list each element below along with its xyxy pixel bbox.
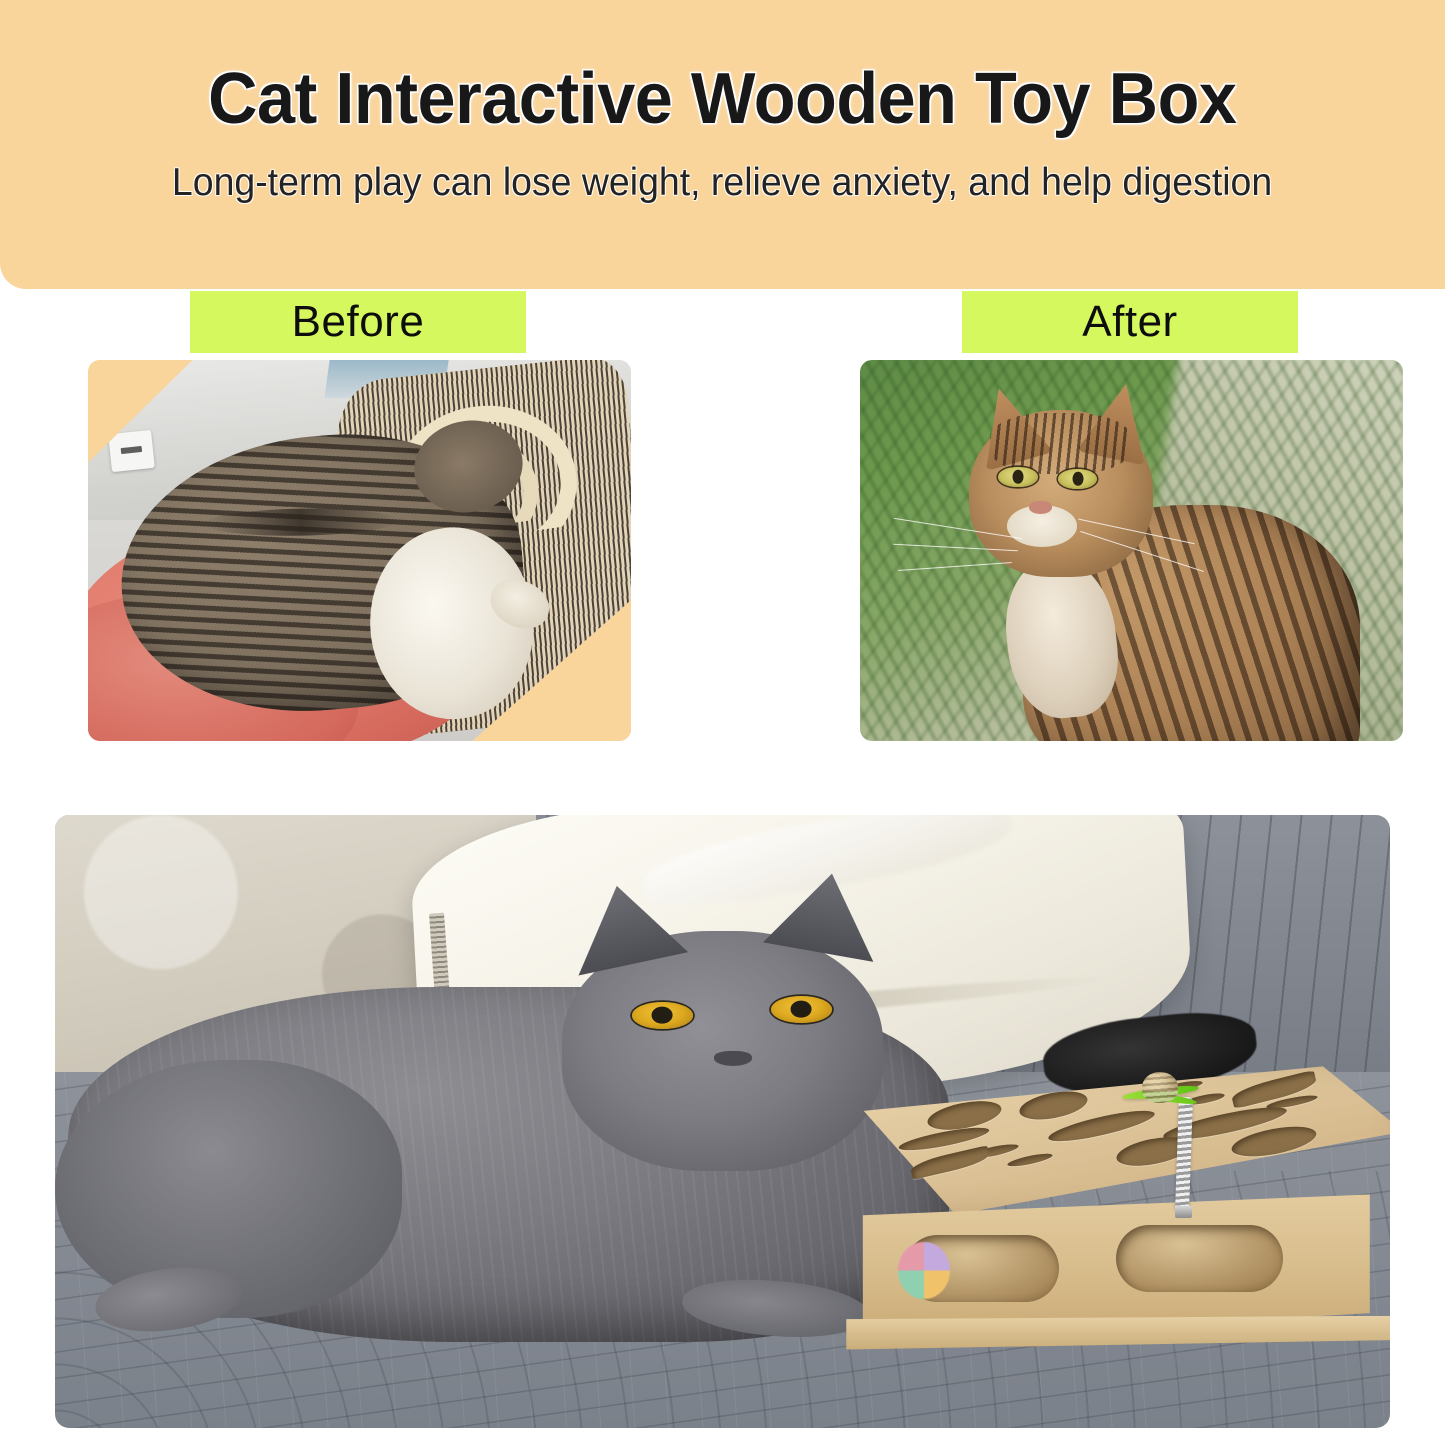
grey-cat-nose: [714, 1051, 751, 1066]
floor-label-tag: [108, 430, 155, 472]
slim-cat-pupil-right: [1072, 472, 1083, 486]
grey-cat-pupil-left: [652, 1007, 673, 1024]
page-subtitle: Long-term play can lose weight, relieve …: [172, 162, 1272, 205]
slim-cat-eye-right: [1058, 469, 1097, 490]
colorful-ball-inside: [898, 1242, 950, 1299]
slim-cat-forehead-stripes: [990, 413, 1131, 474]
header-banner: Cat Interactive Wooden Toy Box Long-term…: [0, 0, 1445, 289]
hero-photo: [55, 815, 1390, 1428]
wooden-toy-box: [829, 1066, 1390, 1403]
front-opening-right: [1116, 1225, 1282, 1292]
sisal-rope-ball: [1142, 1072, 1178, 1103]
before-label: Before: [190, 291, 526, 353]
after-photo: [860, 360, 1403, 741]
page-title: Cat Interactive Wooden Toy Box: [208, 62, 1236, 138]
grey-cat-eye-left: [632, 1002, 693, 1029]
after-label: After: [962, 291, 1298, 353]
spring-mount: [1175, 1206, 1192, 1217]
before-photo: [88, 360, 631, 741]
grey-cat-eye-right: [771, 996, 832, 1023]
slim-cat-nose: [1029, 501, 1052, 514]
cat-spine-shading: [204, 507, 397, 538]
toy-box-base: [835, 1316, 1390, 1350]
slim-cat-pupil-left: [1013, 470, 1024, 484]
grey-cat-pupil-right: [791, 1001, 812, 1018]
slim-cat-eye-left: [998, 467, 1037, 488]
product-infographic: Cat Interactive Wooden Toy Box Long-term…: [0, 0, 1445, 1433]
